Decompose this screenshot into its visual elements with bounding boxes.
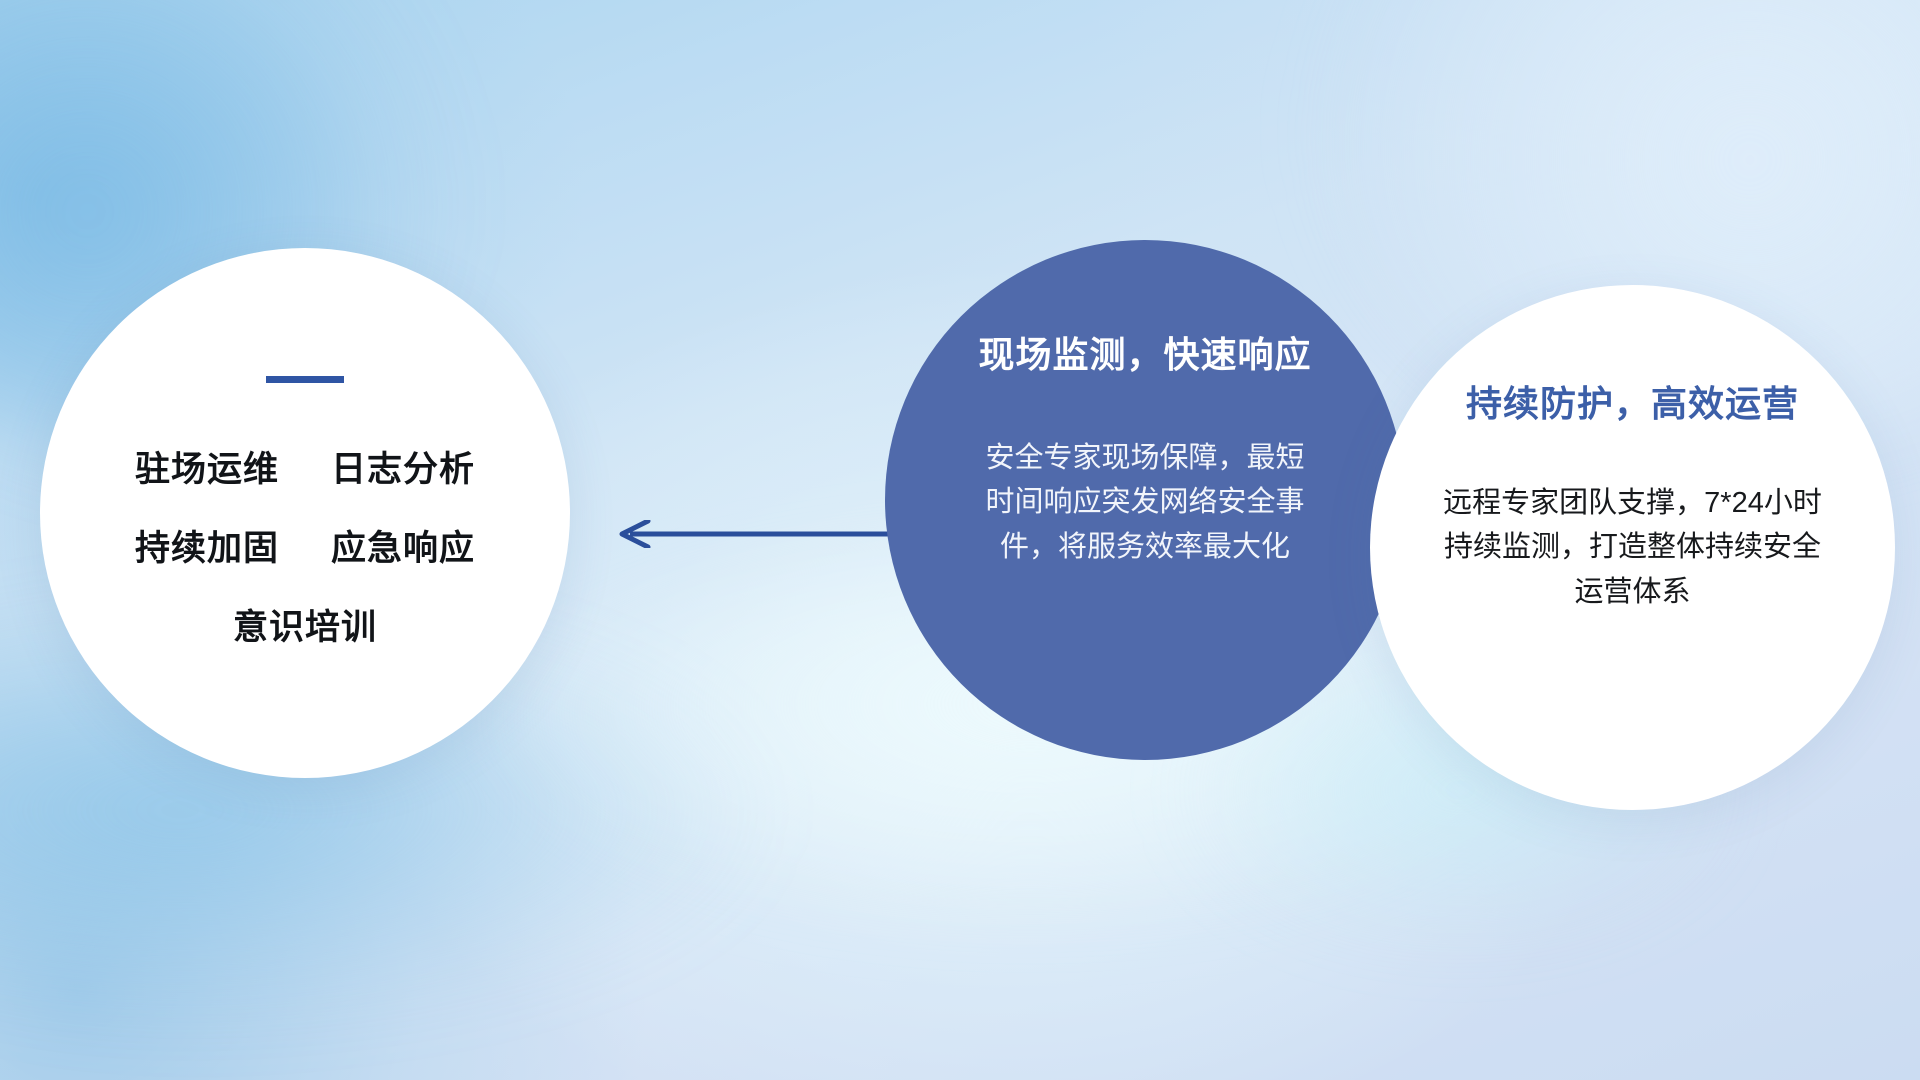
- capability-row: 驻场运维 日志分析: [135, 441, 475, 492]
- capability-row: 意识培训: [233, 599, 377, 650]
- slide-canvas: 驻场运维 日志分析 持续加固 应急响应 意识培训 现场监测，快速响应 安全专家现…: [0, 0, 1920, 1080]
- capability-item: 驻场运维: [135, 441, 279, 492]
- card-circle-capabilities: 驻场运维 日志分析 持续加固 应急响应 意识培训: [40, 248, 570, 778]
- card-body: 安全专家现场保障，最短时间响应突发网络安全事件，将服务效率最大化: [980, 436, 1310, 569]
- capability-item: 持续加固: [135, 520, 279, 571]
- capability-item: 应急响应: [331, 520, 475, 571]
- card-body: 远程专家团队支撑，7*24小时持续监测，打造整体持续安全运营体系: [1433, 481, 1833, 614]
- card-title: 持续防护，高效运营: [1466, 375, 1799, 427]
- capability-item: 意识培训: [233, 599, 377, 650]
- card-circle-onsite-monitoring: 现场监测，快速响应 安全专家现场保障，最短时间响应突发网络安全事件，将服务效率最…: [885, 240, 1405, 760]
- arrow-left-icon: [608, 520, 908, 548]
- card-title: 现场监测，快速响应: [978, 326, 1311, 378]
- capability-list: 驻场运维 日志分析 持续加固 应急响应 意识培训: [135, 441, 475, 650]
- divider-dash: [266, 376, 344, 383]
- card-circle-continuous-protection: 持续防护，高效运营 远程专家团队支撑，7*24小时持续监测，打造整体持续安全运营…: [1370, 285, 1895, 810]
- capability-item: 日志分析: [331, 441, 475, 492]
- capability-row: 持续加固 应急响应: [135, 520, 475, 571]
